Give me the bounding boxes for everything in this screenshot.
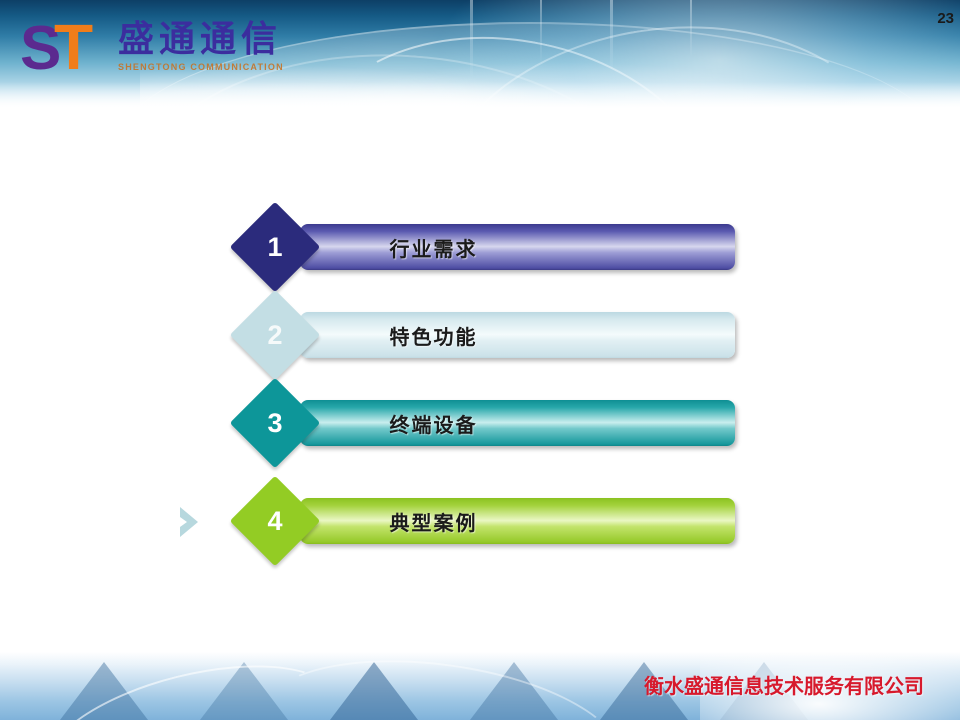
slide-canvas: S T 盛通通信 SHENGTONG COMMUNICATION 行业需求 1 … — [0, 0, 960, 720]
agenda-bar-1[interactable]: 行业需求 — [300, 224, 735, 270]
agenda-list: 行业需求 1 特色功能 2 终端设备 3 — [0, 112, 960, 652]
footer-shape-2 — [200, 662, 288, 720]
logo-wordmark: 盛通通信 SHENGTONG COMMUNICATION — [118, 14, 284, 74]
footer-banner: 衡水盛通信息技术服务有限公司 — [0, 652, 960, 720]
light-streak-2 — [540, 0, 542, 64]
orbit-arc-2 — [409, 0, 925, 112]
agenda-item-2[interactable]: 特色功能 2 — [0, 304, 960, 366]
agenda-item-3[interactable]: 终端设备 3 — [0, 392, 960, 454]
logo-company-en: SHENGTONG COMMUNICATION — [118, 61, 284, 74]
agenda-item-4[interactable]: 典型案例 4 — [0, 490, 960, 552]
agenda-label-1: 行业需求 — [300, 224, 735, 270]
agenda-bar-4[interactable]: 典型案例 — [300, 498, 735, 544]
agenda-number-4: 4 — [243, 489, 307, 553]
logo-letter-t: T — [54, 18, 93, 76]
footer-shape-1 — [60, 662, 148, 720]
header-banner: S T 盛通通信 SHENGTONG COMMUNICATION — [0, 0, 960, 112]
agenda-number-1: 1 — [243, 215, 307, 279]
agenda-number-3: 3 — [243, 391, 307, 455]
company-logo: S T 盛通通信 SHENGTONG COMMUNICATION — [18, 14, 284, 86]
agenda-label-2: 特色功能 — [300, 312, 735, 358]
agenda-bar-3[interactable]: 终端设备 — [300, 400, 735, 446]
agenda-item-1[interactable]: 行业需求 1 — [0, 216, 960, 278]
agenda-bar-2[interactable]: 特色功能 — [300, 312, 735, 358]
header-fade — [0, 82, 960, 112]
footer-company-name: 衡水盛通信息技术服务有限公司 — [644, 670, 924, 699]
chevron-right-icon — [176, 504, 204, 540]
light-streak-3 — [610, 0, 613, 74]
page-number: 23 — [937, 10, 954, 27]
agenda-number-2: 2 — [243, 303, 307, 367]
logo-mark: S T — [18, 14, 114, 80]
logo-company-cn: 盛通通信 — [118, 20, 284, 60]
header-glow — [440, 0, 960, 112]
footer-shape-3 — [330, 662, 418, 720]
light-streak-1 — [470, 0, 473, 80]
footer-arc-2 — [252, 652, 632, 720]
agenda-label-3: 终端设备 — [300, 400, 735, 446]
orbit-arc-1 — [273, 0, 751, 112]
agenda-label-4: 典型案例 — [300, 498, 735, 544]
light-streak-4 — [690, 0, 692, 58]
footer-shape-4 — [470, 662, 558, 720]
